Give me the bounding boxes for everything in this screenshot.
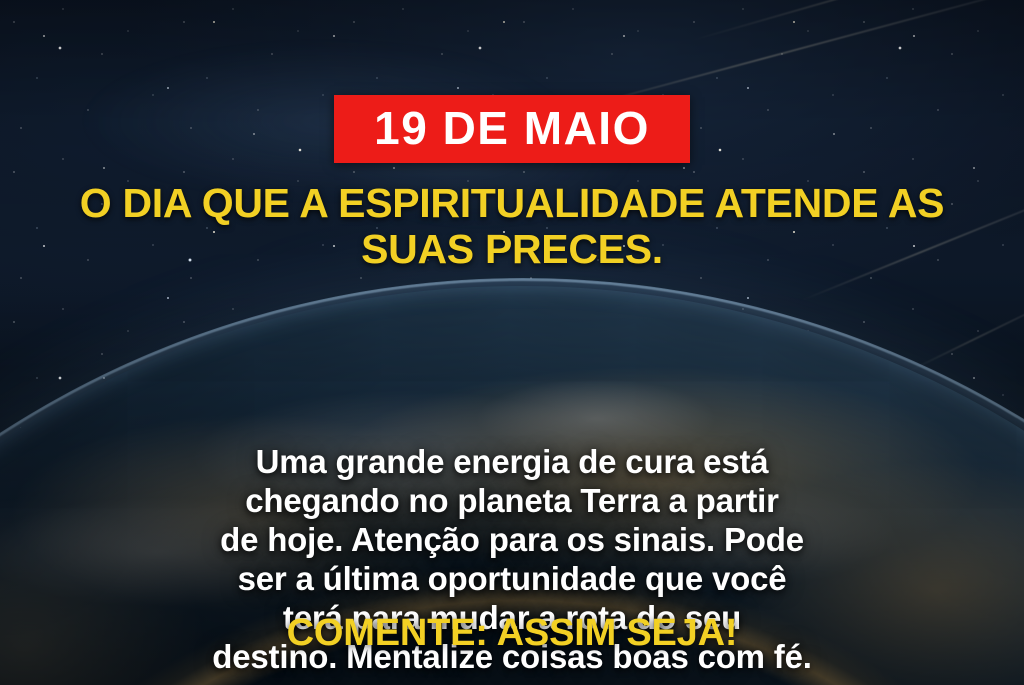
poster-content: 19 DE MAIO O DIA QUE A ESPIRITUALIDADE A…: [0, 0, 1024, 685]
headline-line-1: O DIA QUE A ESPIRITUALIDADE: [80, 180, 705, 226]
headline: O DIA QUE A ESPIRITUALIDADE ATENDE AS SU…: [62, 181, 962, 273]
date-banner: 19 DE MAIO: [334, 95, 690, 163]
body-line-4: ser a última oportunidade que você: [62, 560, 962, 599]
poster-image: 19 DE MAIO O DIA QUE A ESPIRITUALIDADE A…: [0, 0, 1024, 685]
body-line-2: chegando no planeta Terra a partir: [62, 482, 962, 521]
call-to-action-text: COMENTE: ASSIM SEJA!: [287, 612, 738, 655]
body-line-1: Uma grande energia de cura está: [62, 443, 962, 482]
body-line-3: de hoje. Atenção para os sinais. Pode: [62, 521, 962, 560]
